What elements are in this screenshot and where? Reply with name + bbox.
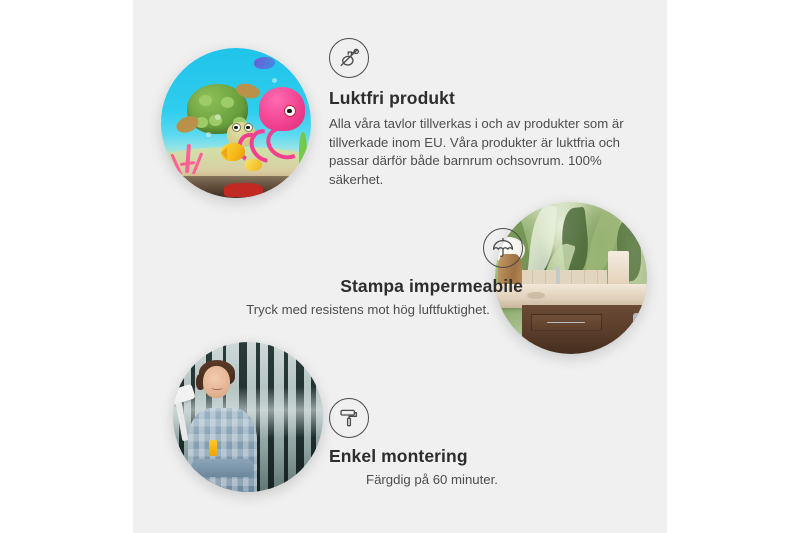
vanity-drawer [531,314,602,331]
umbrella-icon [483,228,523,268]
paint-roller-icon [329,398,369,438]
bubble-icon [272,78,277,83]
turtle-eye [244,123,253,132]
forest-scene [173,342,323,492]
woman-torso [188,408,257,492]
feature-body: Alla våra tavlor tillverkas i och av pro… [329,115,629,190]
seabed-rock [224,183,263,197]
feature-title: Luktfri produkt [329,88,629,109]
vanity-handle [633,313,640,342]
photo-underwater [161,48,311,198]
paint-tool [209,440,217,457]
no-fragrance-icon [329,38,369,78]
vanity-cabinet [522,305,647,354]
feature-odourless: Luktfri produkt Alla våra tavlor tillver… [329,38,629,190]
feature-easy-mounting: Enkel montering Färgdig på 60 minuter. [329,398,629,490]
infographic-panel: Luktfri produkt Alla våra tavlor tillver… [133,0,667,533]
underwater-scene [161,48,311,198]
woman-arms [191,459,254,477]
feature-body: Tryck med resistens mot hög luftfuktighe… [213,301,523,320]
feature-title: Stampa impermeabile [213,276,523,297]
photo-forest [173,342,323,492]
screenshot-root: Luktfri produkt Alla våra tavlor tillver… [0,0,800,533]
woman-smile [211,386,223,391]
feature-body: Färgdig på 60 minuter. [329,471,535,490]
fish-yellow-small [245,159,262,171]
fish-yellow [221,143,245,161]
octopus-eye [284,105,296,117]
feature-waterproof: Stampa impermeabile Tryck med resistens … [213,228,523,320]
fish-blue [254,57,275,69]
bubble-icon [206,132,211,137]
woman-face [203,366,230,398]
bubble-icon [215,114,221,120]
feature-title: Enkel montering [329,446,629,467]
octopus-head [259,87,306,131]
turtle-eye [232,123,241,132]
